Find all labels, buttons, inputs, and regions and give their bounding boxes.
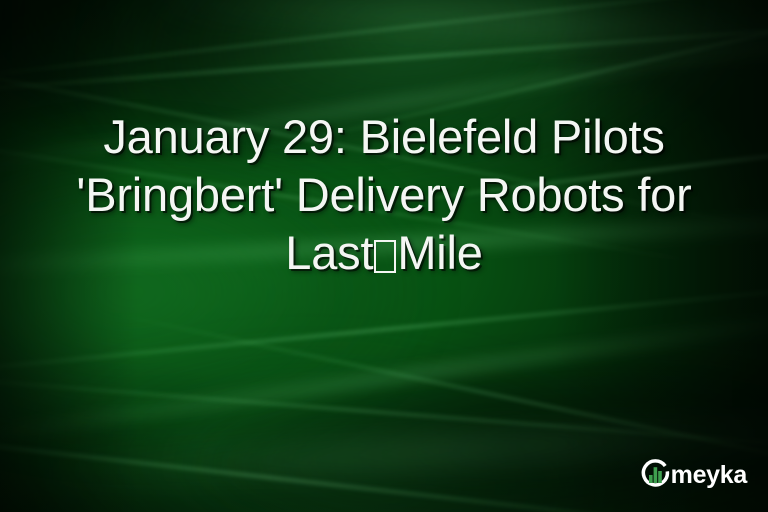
headline-line-2: 'Bringbert' Delivery Robots for — [28, 166, 740, 224]
light-streak — [0, 300, 768, 447]
brand-logo[interactable]: meyka — [640, 458, 750, 490]
headline-line-3: LastMile — [28, 224, 740, 282]
light-streak — [0, 369, 768, 452]
missing-glyph-icon — [374, 240, 396, 273]
light-streak — [0, 424, 727, 512]
meyka-ring-barchart-icon — [640, 458, 672, 490]
light-streak — [101, 310, 768, 480]
glow-lower-wave — [20, 310, 702, 512]
light-streak — [138, 0, 768, 62]
light-streak — [0, 0, 768, 84]
headline-line-1: January 29: Bielefeld Pilots — [28, 108, 740, 166]
light-streak — [0, 18, 768, 97]
social-card: January 29: Bielefeld Pilots 'Bringbert'… — [0, 0, 768, 512]
headline-line-3-after: Mile — [397, 226, 482, 279]
light-streak — [0, 280, 768, 379]
headline-block: January 29: Bielefeld Pilots 'Bringbert'… — [0, 108, 768, 282]
logo-wordmark: meyka — [671, 463, 747, 488]
headline-line-3-before: Last — [285, 226, 373, 279]
